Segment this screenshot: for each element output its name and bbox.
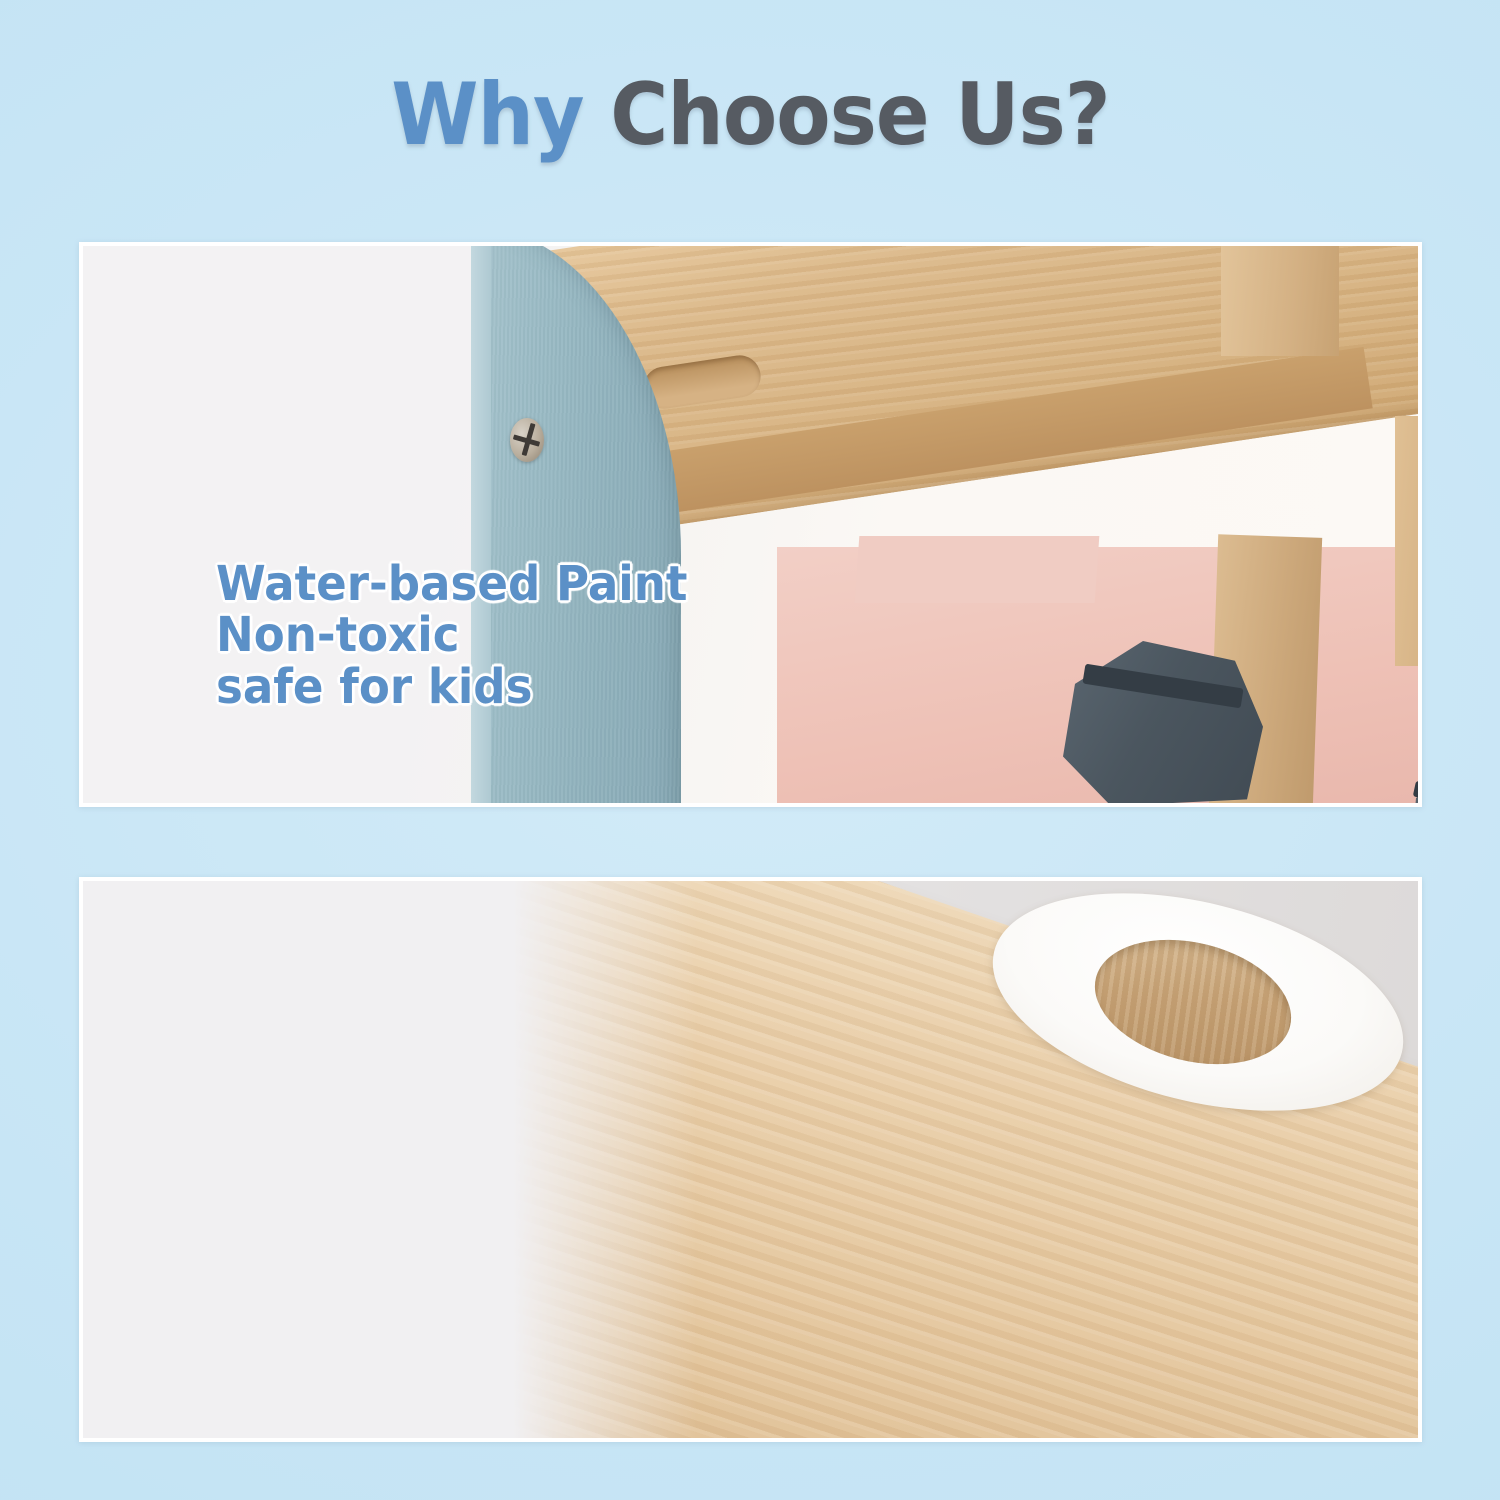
photo-text-fade-overlay bbox=[83, 246, 457, 803]
panel-1-caption-line-2: Non-toxic bbox=[216, 610, 687, 661]
page-title-highlight: Why bbox=[391, 65, 610, 165]
feature-panel-solid-wood[interactable]: Solid Wood Not prone to cracking and def… bbox=[79, 877, 1422, 1442]
panel-1-caption: Water-based Paint Non-toxic safe for kid… bbox=[216, 559, 687, 713]
phillips-screw-icon bbox=[510, 418, 544, 462]
blue-board-edge bbox=[471, 246, 491, 803]
page-title: Why Choose Us? bbox=[0, 72, 1500, 158]
wooden-post-right bbox=[1395, 416, 1418, 666]
pink-floor-step bbox=[855, 536, 1100, 603]
wooden-post-upper bbox=[1221, 246, 1339, 356]
feature-panel-water-based-paint[interactable]: Water-based Paint Non-toxic safe for kid… bbox=[79, 242, 1422, 807]
feature-photo-wood-detail bbox=[83, 881, 1418, 1438]
panel-1-caption-line-3: safe for kids bbox=[216, 662, 687, 713]
feature-photo-paint-detail bbox=[83, 246, 1418, 803]
page-title-rest: Choose Us? bbox=[610, 65, 1109, 165]
photo-text-fade-overlay bbox=[83, 881, 697, 1438]
panel-1-caption-line-1: Water-based Paint bbox=[216, 559, 687, 610]
